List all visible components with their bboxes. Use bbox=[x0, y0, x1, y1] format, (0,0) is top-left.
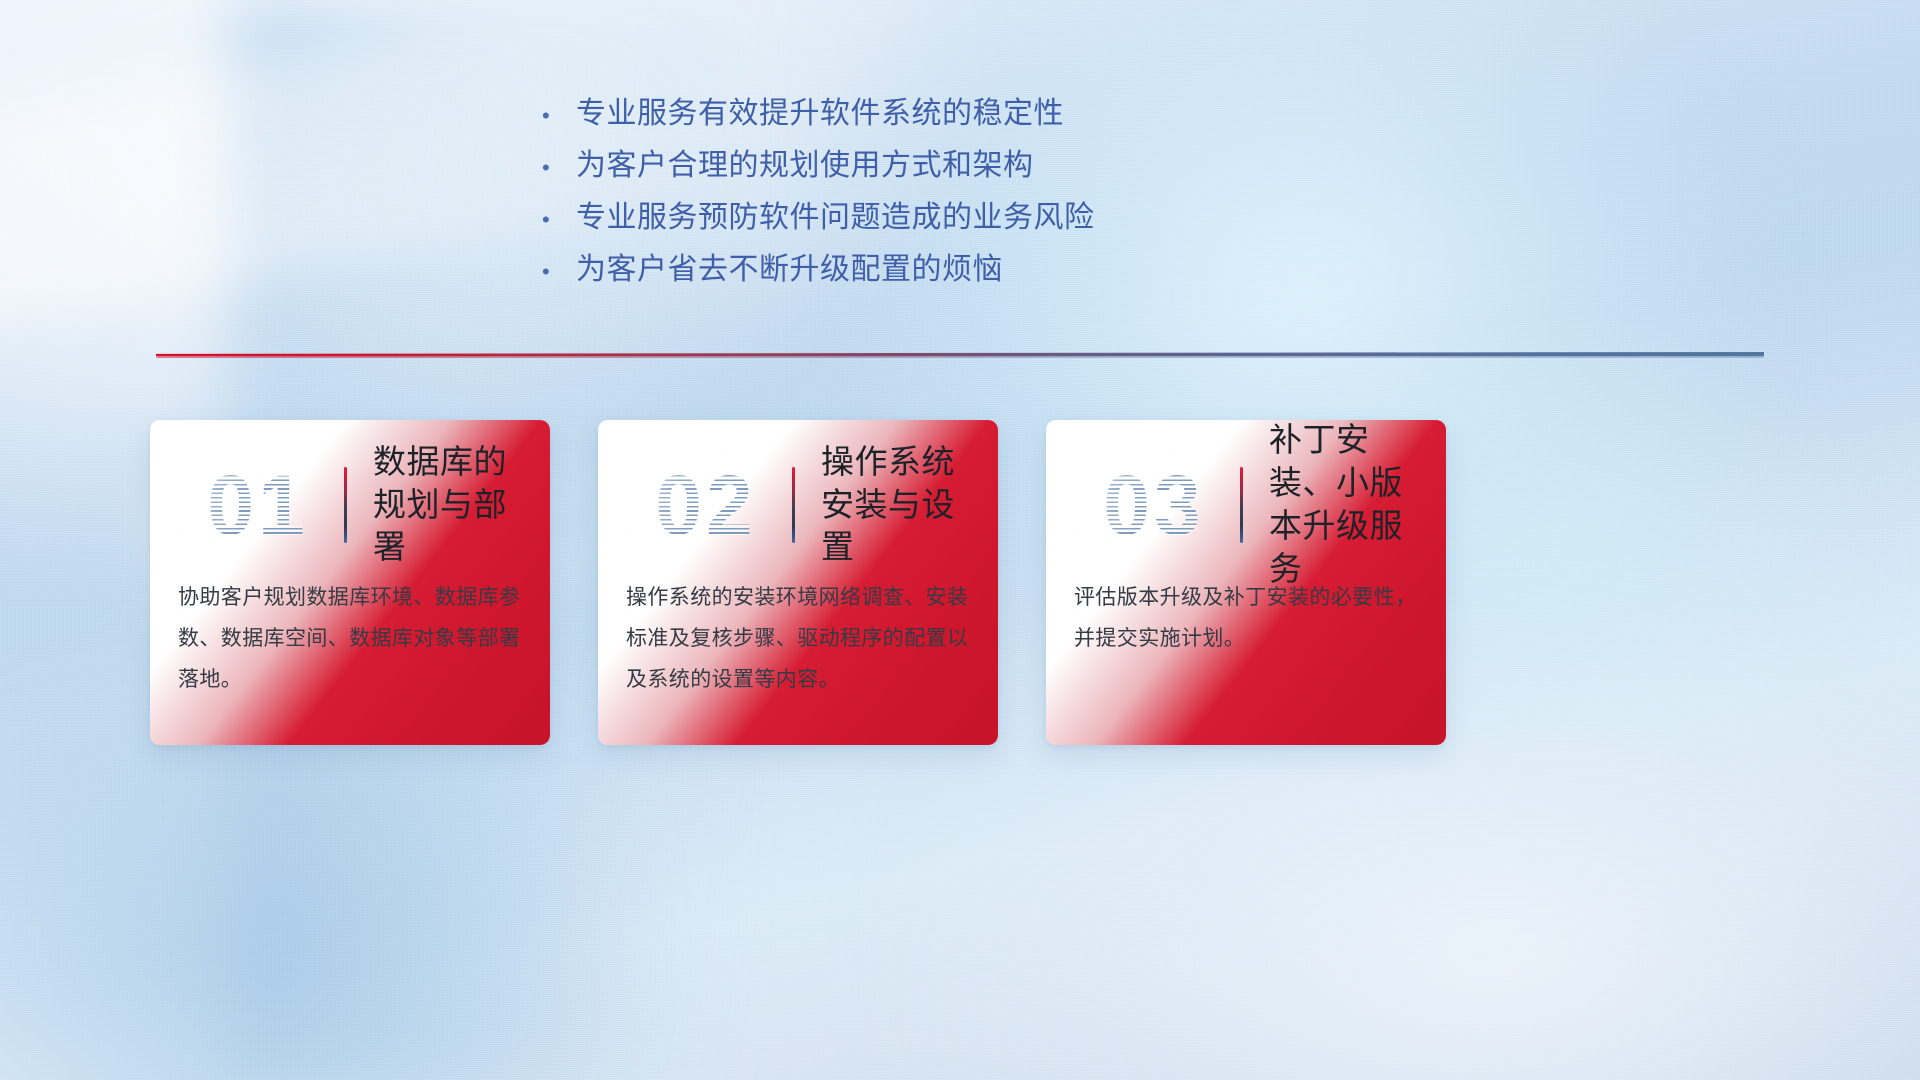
bullet-text: 专业服务有效提升软件系统的稳定性 bbox=[576, 88, 1064, 132]
service-card-list: 01 数据库的规划与部署 协助客户规划数据库环境、数据库参数、数据库空间、数据库… bbox=[150, 420, 1770, 750]
bullet-text: 专业服务预防软件问题造成的业务风险 bbox=[576, 192, 1095, 236]
bullet-item: • 专业服务预防软件问题造成的业务风险 bbox=[536, 192, 1256, 244]
card-header: 01 数据库的规划与部署 bbox=[150, 450, 550, 560]
service-card[interactable]: 01 数据库的规划与部署 协助客户规划数据库环境、数据库参数、数据库空间、数据库… bbox=[150, 420, 550, 745]
bullet-item: • 专业服务有效提升软件系统的稳定性 bbox=[536, 88, 1256, 140]
bullet-item: • 为客户合理的规划使用方式和架构 bbox=[536, 140, 1256, 192]
bullet-marker-icon: • bbox=[536, 261, 576, 283]
bullet-marker-icon: • bbox=[536, 157, 576, 179]
bullet-text: 为客户合理的规划使用方式和架构 bbox=[576, 140, 1034, 184]
card-divider-rule bbox=[1240, 467, 1243, 543]
service-card[interactable]: 02 操作系统安装与设置 操作系统的安装环境网络调查、安装标准及复核步骤、驱动程… bbox=[598, 420, 998, 745]
card-header: 02 操作系统安装与设置 bbox=[598, 450, 998, 560]
card-body-text: 评估版本升级及补丁安装的必要性，并提交实施计划。 bbox=[1074, 578, 1422, 660]
service-card[interactable]: 03 补丁安装、小版本升级服务 评估版本升级及补丁安装的必要性，并提交实施计划。 bbox=[1046, 420, 1446, 745]
bullet-item: • 为客户省去不断升级配置的烦恼 bbox=[536, 244, 1256, 296]
section-divider bbox=[156, 348, 1764, 362]
card-number-watermark: 02 bbox=[620, 463, 792, 547]
card-title: 补丁安装、小版本升级服务 bbox=[1269, 419, 1432, 591]
bullet-text: 为客户省去不断升级配置的烦恼 bbox=[576, 244, 1003, 288]
benefits-bullet-list: • 专业服务有效提升软件系统的稳定性 • 为客户合理的规划使用方式和架构 • 专… bbox=[536, 88, 1256, 296]
card-divider-rule bbox=[792, 467, 795, 543]
card-number-watermark: 01 bbox=[172, 463, 344, 547]
card-divider-rule bbox=[344, 467, 347, 543]
card-body-text: 协助客户规划数据库环境、数据库参数、数据库空间、数据库对象等部署落地。 bbox=[178, 578, 526, 701]
bullet-marker-icon: • bbox=[536, 105, 576, 127]
card-body-text: 操作系统的安装环境网络调查、安装标准及复核步骤、驱动程序的配置以及系统的设置等内… bbox=[626, 578, 974, 701]
card-title: 数据库的规划与部署 bbox=[373, 441, 536, 570]
bullet-marker-icon: • bbox=[536, 209, 576, 231]
card-title: 操作系统安装与设置 bbox=[821, 441, 984, 570]
card-number-watermark: 03 bbox=[1068, 463, 1240, 547]
card-header: 03 补丁安装、小版本升级服务 bbox=[1046, 450, 1446, 560]
